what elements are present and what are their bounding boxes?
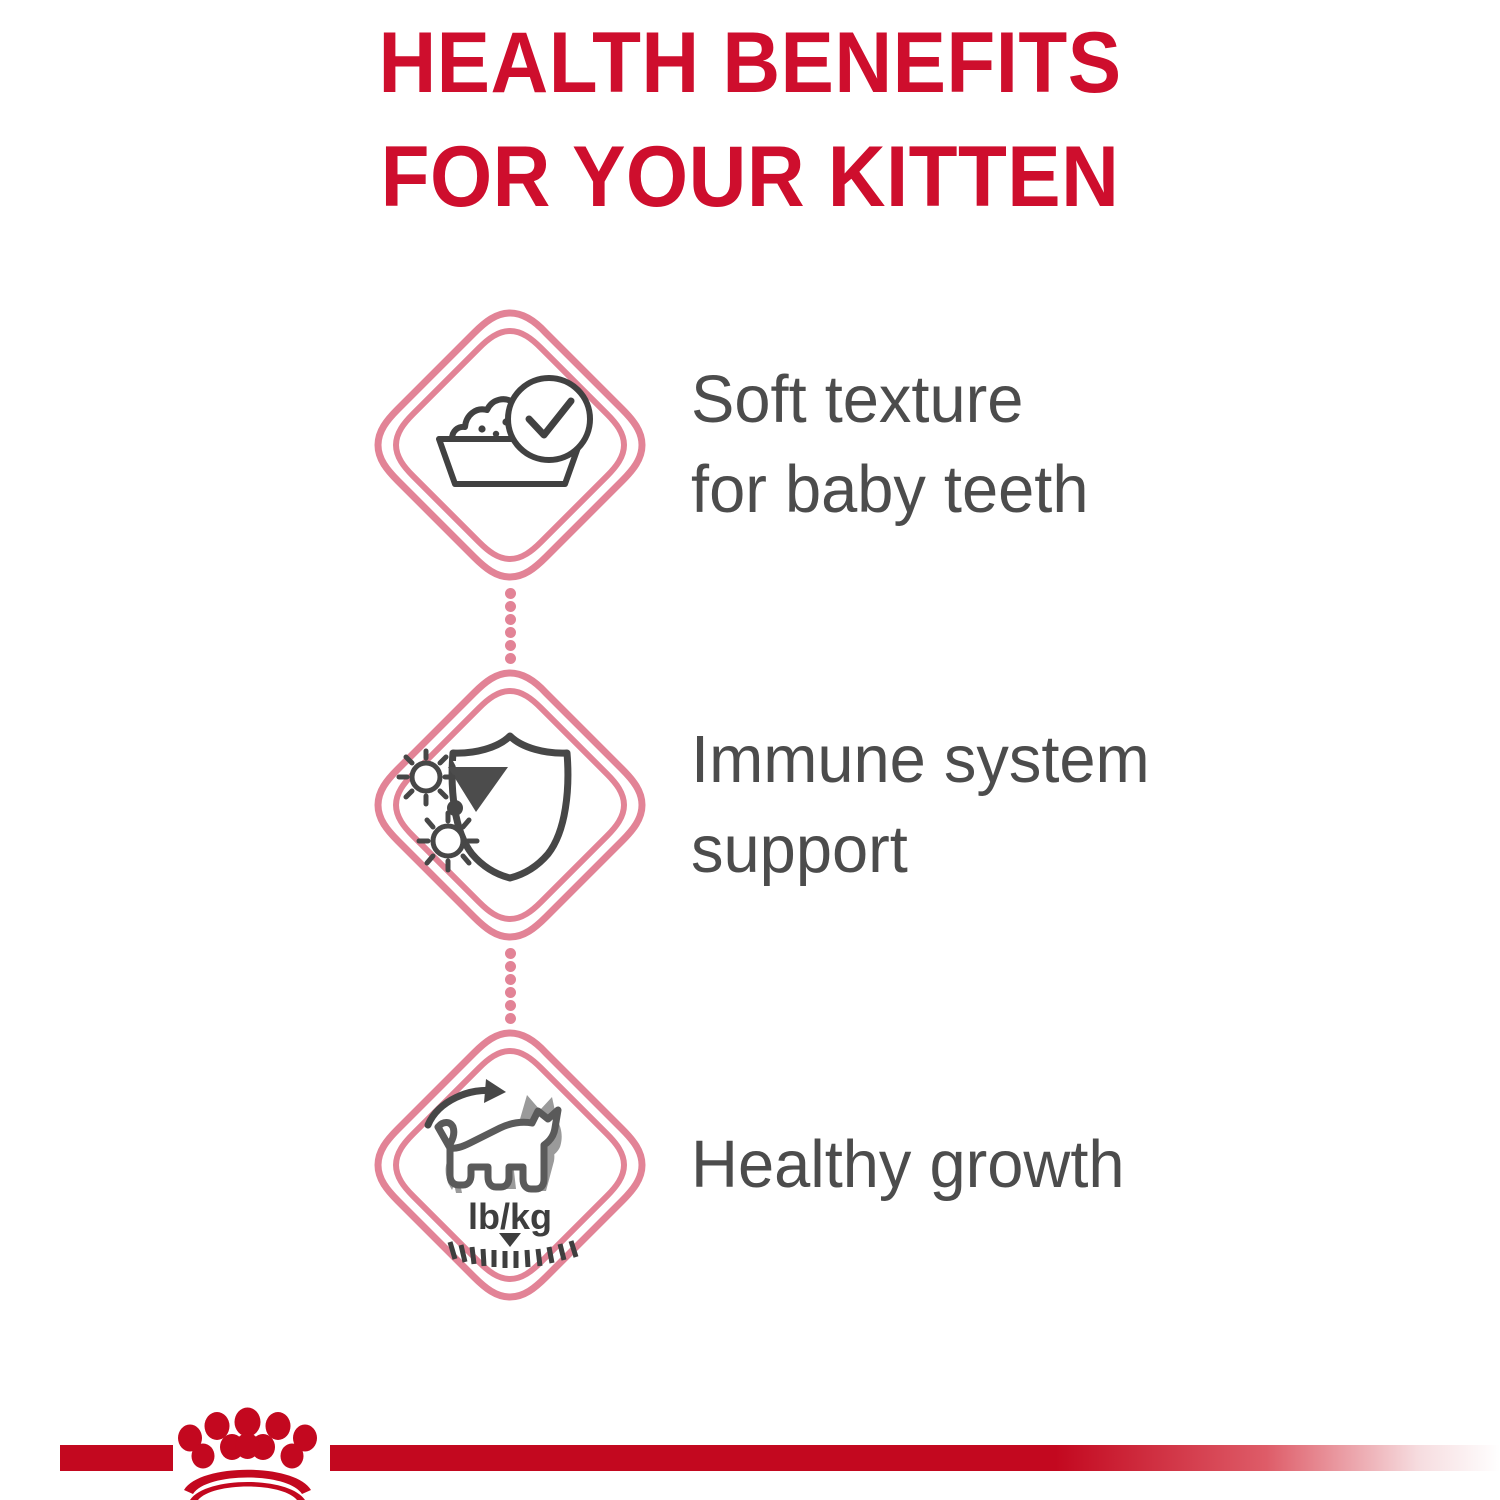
cat-weight-scale-icon: lb/kg — [360, 1015, 660, 1315]
health-benefits-infographic: HEALTH BENEFITS FOR YOUR KITTEN — [0, 0, 1500, 1500]
benefit-row: lb/kg — [360, 1015, 1420, 1315]
benefit-row: Immune system support — [360, 655, 1420, 955]
royal-canin-crown-logo — [160, 1400, 335, 1500]
footer-bar-left — [60, 1445, 173, 1471]
dotted-connector — [502, 588, 518, 664]
benefit-row: Soft texture for baby teeth — [360, 295, 1420, 595]
icon-unit-label: lb/kg — [468, 1196, 552, 1237]
page-title-line-2: FOR YOUR KITTEN — [53, 120, 1448, 234]
benefit-label: Healthy growth — [660, 1120, 1397, 1210]
footer-bar-right — [330, 1445, 1500, 1471]
food-bowl-check-icon — [360, 295, 660, 595]
connector-dot — [505, 627, 516, 638]
connector-dot — [505, 588, 516, 599]
connector-dot — [505, 614, 516, 625]
benefit-label: Soft texture for baby teeth — [660, 355, 1397, 535]
shield-germs-icon — [360, 655, 660, 955]
connector-dot — [505, 601, 516, 612]
connector-dot — [505, 987, 516, 998]
benefit-label: Immune system support — [660, 715, 1397, 895]
connector-dot — [505, 948, 516, 959]
connector-dot — [505, 974, 516, 985]
connector-dot — [505, 961, 516, 972]
page-title: HEALTH BENEFITS FOR YOUR KITTEN — [0, 6, 1500, 234]
connector-dot — [505, 1000, 516, 1011]
dotted-connector — [502, 948, 518, 1024]
page-title-line-1: HEALTH BENEFITS — [53, 6, 1448, 120]
connector-dot — [505, 640, 516, 651]
